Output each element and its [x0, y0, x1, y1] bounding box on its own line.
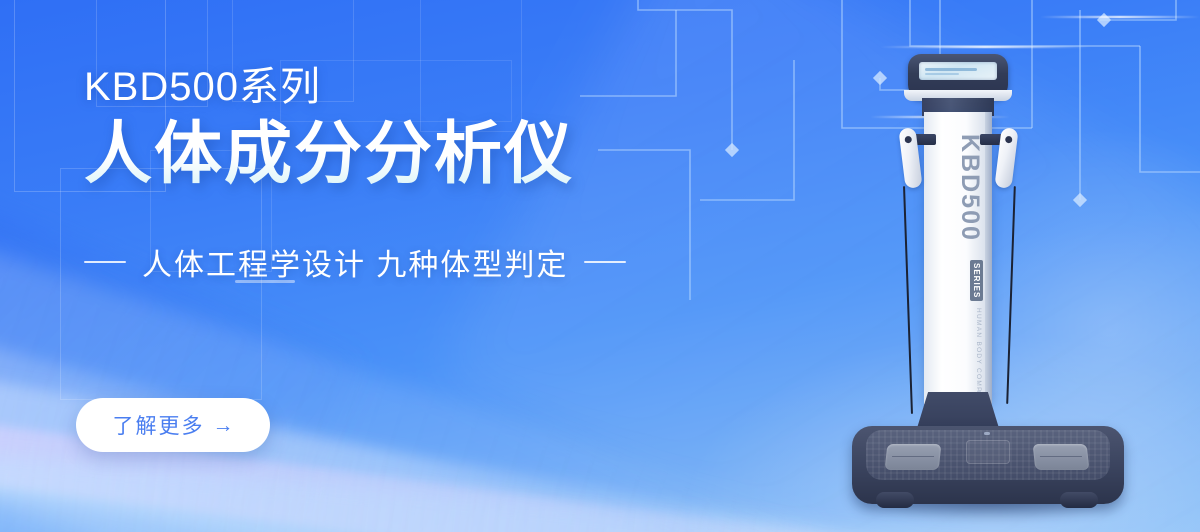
- device-brand-label: KBD500: [955, 134, 984, 242]
- page-title: 人体成分分析仪: [84, 116, 724, 192]
- arrow-right-icon: →: [213, 415, 234, 436]
- eyebrow-text: KBD500系列: [84, 64, 724, 110]
- device-image: KBD500 SERIES HUMAN BODY COMPOSITION ANA…: [838, 40, 1138, 520]
- hero-banner: KBD500系列 人体成分分析仪 人体工程学设计 九种体型判定 了解更多 → K…: [0, 0, 1200, 532]
- device-series-badge: SERIES: [970, 260, 983, 301]
- platform-center-mark: [966, 440, 1010, 464]
- subtitle-text: 人体工程学设计 九种体型判定: [142, 240, 568, 284]
- learn-more-button[interactable]: 了解更多 →: [76, 398, 270, 452]
- foot-electrode-right: [1033, 444, 1090, 470]
- device-column: KBD500 SERIES HUMAN BODY COMPOSITION ANA…: [924, 112, 992, 404]
- cable-left: [903, 186, 913, 414]
- cable-right: [1006, 186, 1016, 404]
- pad-line: [892, 456, 934, 457]
- pad-line: [1040, 456, 1082, 457]
- screen-line: [925, 73, 959, 75]
- platform-foot-left: [876, 492, 914, 508]
- platform-led: [984, 432, 990, 435]
- dash-left: [84, 261, 126, 263]
- electrode-contact: [904, 136, 912, 144]
- ribbon-2: [0, 253, 856, 532]
- screen-line: [925, 68, 977, 71]
- learn-more-label: 了解更多: [113, 410, 205, 440]
- subtitle-row: 人体工程学设计 九种体型判定: [84, 240, 724, 284]
- device-screen: [919, 62, 997, 80]
- glow-streak: [1040, 16, 1200, 18]
- hero-copy: KBD500系列 人体成分分析仪 人体工程学设计 九种体型判定: [84, 64, 724, 284]
- foot-electrode-left: [885, 444, 942, 470]
- dash-right: [584, 261, 626, 263]
- electrode-contact: [1005, 136, 1013, 144]
- column-edge: [985, 112, 992, 404]
- platform-foot-right: [1060, 492, 1098, 508]
